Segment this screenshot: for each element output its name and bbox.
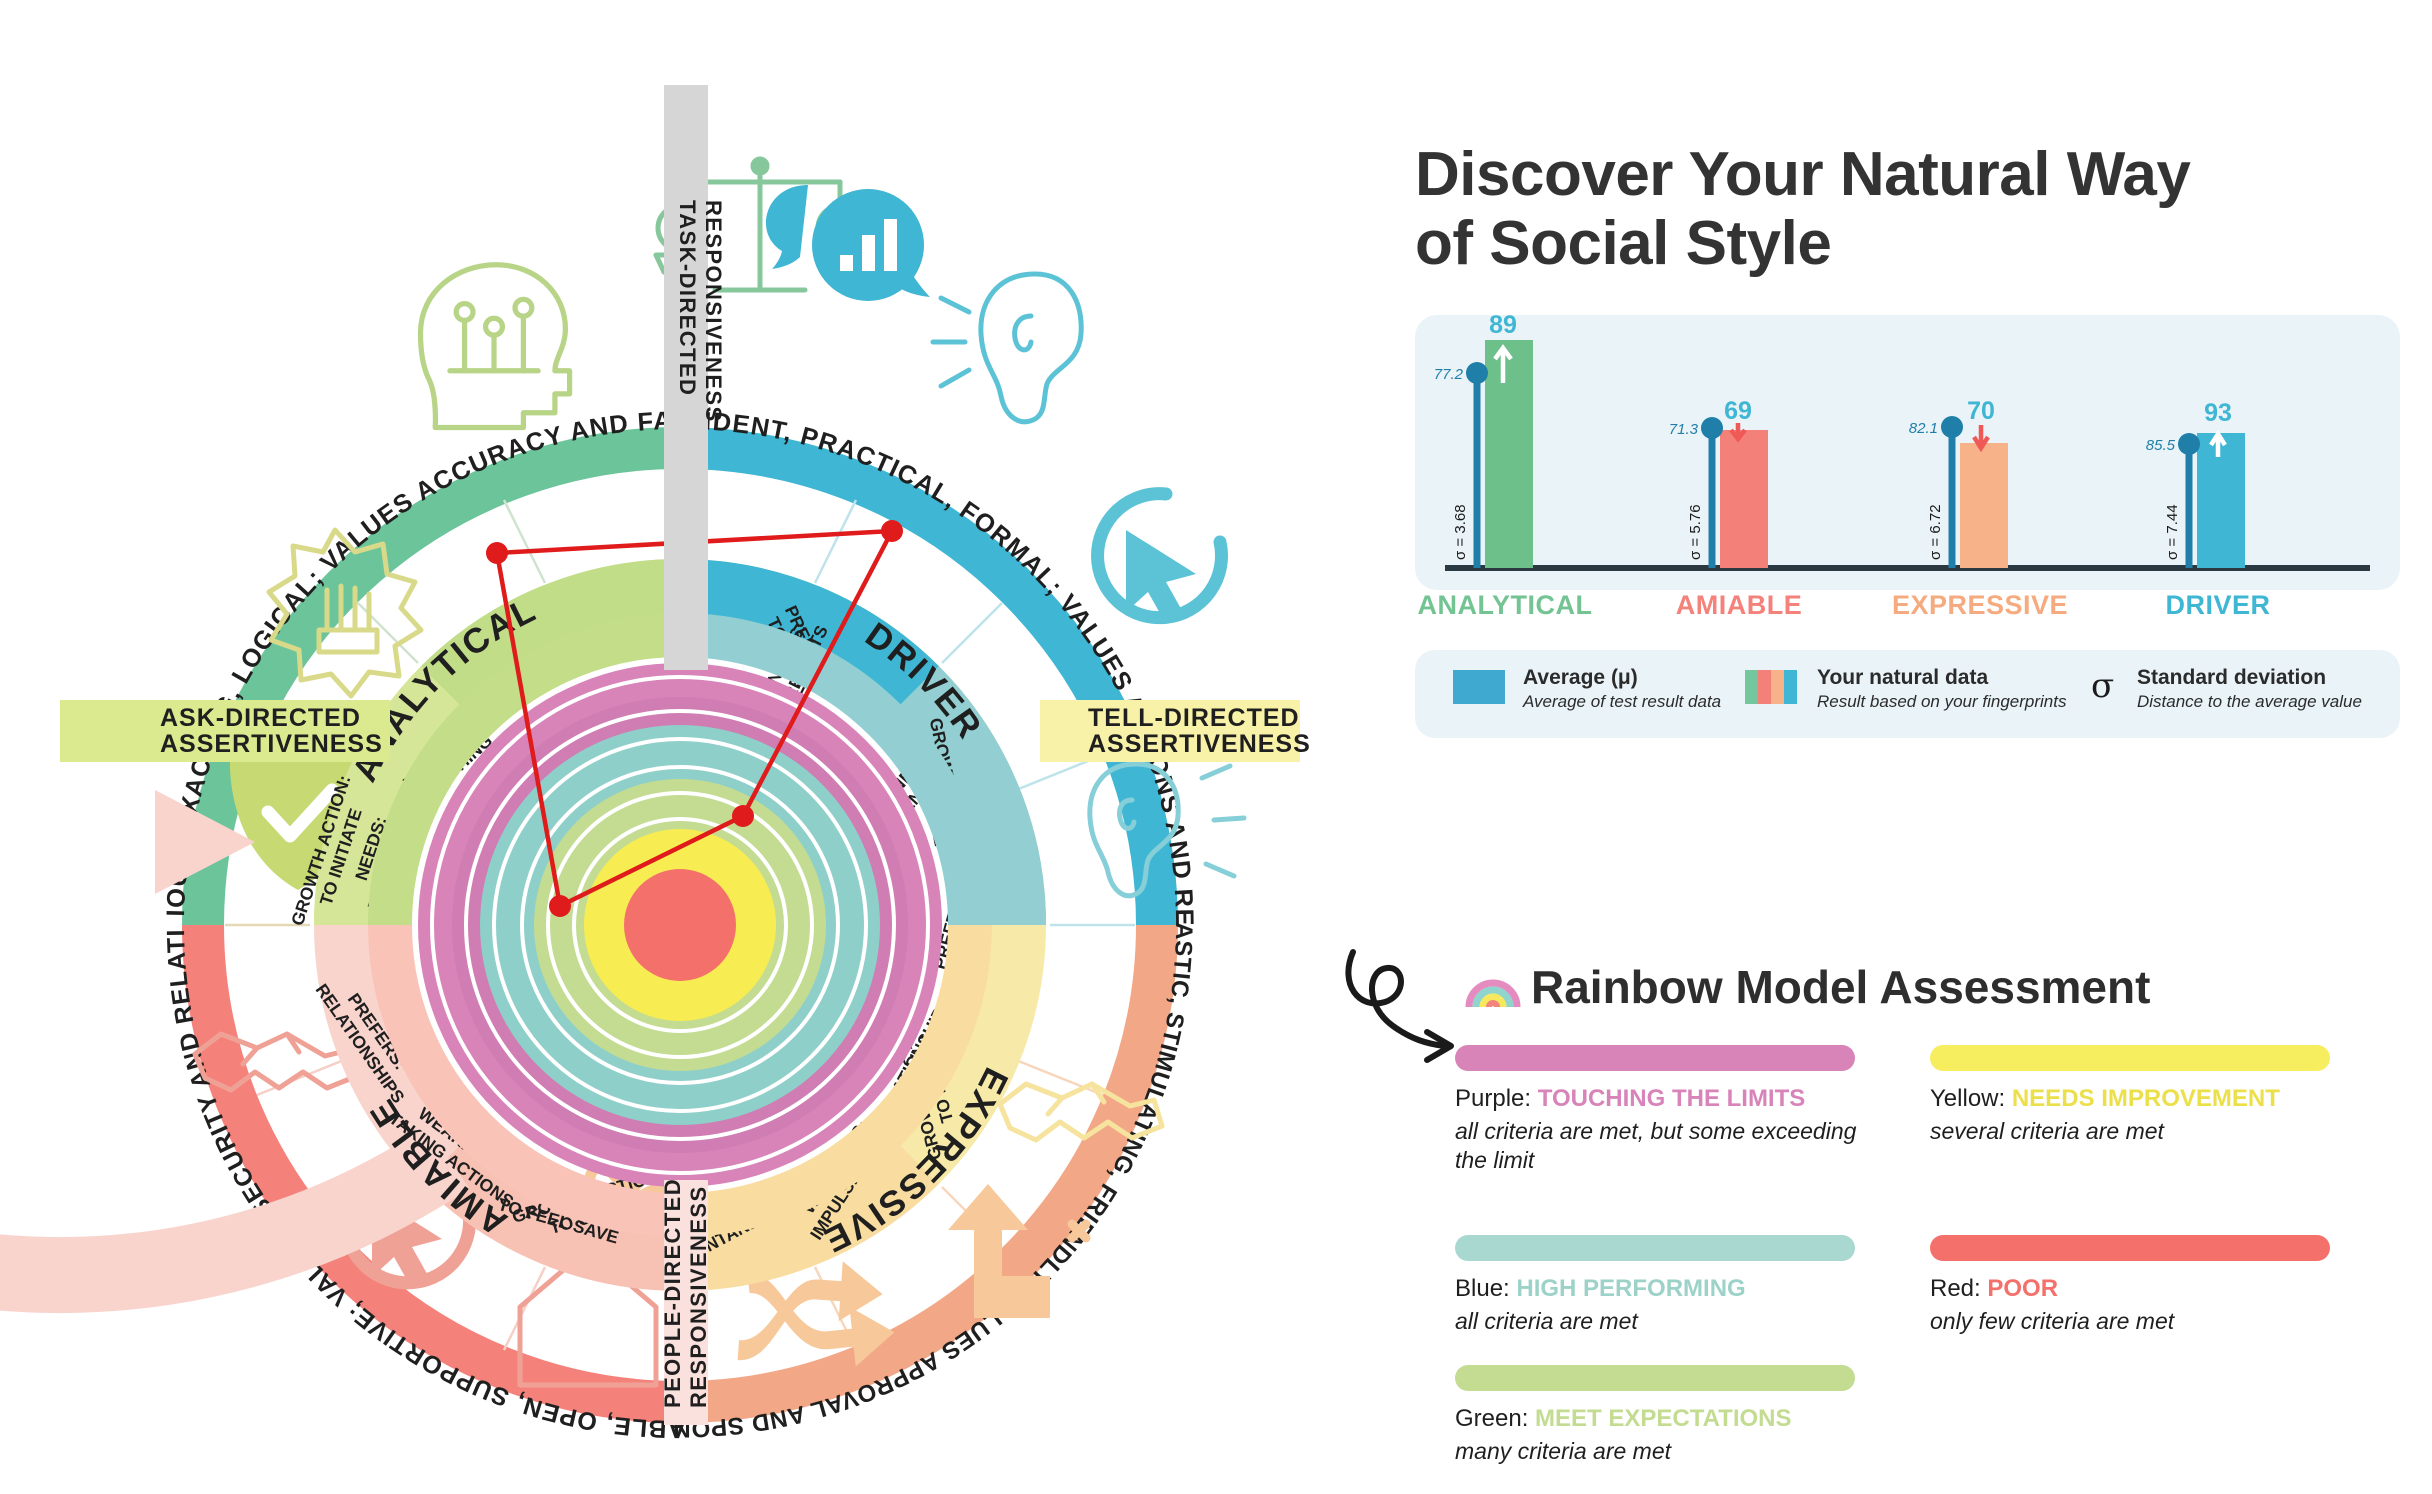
bar-group-amiable: 71.3 69 σ = 5.76 bbox=[1669, 397, 1768, 568]
rainbow-label-red: Red: POOR bbox=[1930, 1275, 2350, 1303]
axis-right: TELL-DIRECTED ASSERTIVENESS bbox=[1040, 700, 1311, 762]
bar-expressive bbox=[1960, 443, 2008, 568]
category-label-amiable: AMIABLE bbox=[1614, 590, 1864, 621]
page-title-line1: Discover Your Natural Way bbox=[1415, 140, 2415, 209]
bar-analytical bbox=[1485, 340, 1533, 568]
rainbow-desc-purple: all criteria are met, but some exceeding… bbox=[1455, 1117, 1875, 1176]
sigma-label-driver: σ = 7.44 bbox=[2164, 504, 2181, 560]
legend-sigma-sub: Distance to the average value bbox=[2137, 692, 2362, 712]
bar-amiable bbox=[1720, 430, 1768, 568]
page-title: Discover Your Natural Way of Social Styl… bbox=[1415, 140, 2415, 279]
bar-group-expressive: 82.1 70 σ = 6.72 bbox=[1909, 397, 2008, 568]
rainbow-bar-yellow bbox=[1930, 1045, 2330, 1071]
bar-group-analytical: 77.2 89 σ = 3.68 bbox=[1434, 315, 1533, 568]
value-label-driver: 93 bbox=[2204, 399, 2232, 427]
rainbow-desc-green: many criteria are met bbox=[1455, 1437, 1875, 1466]
legend-swatch-natural bbox=[1745, 670, 1797, 704]
legend-average-sub: Average of test result data bbox=[1523, 692, 1721, 712]
legend-average: Average (μ) Average of test result data bbox=[1523, 666, 1721, 712]
rainbow-bar-green bbox=[1455, 1365, 1855, 1391]
rainbow-bar-blue bbox=[1455, 1235, 1855, 1261]
axis-bottom-label2: RESPONSIVENESS bbox=[686, 1185, 711, 1408]
rainbow-icon bbox=[1465, 965, 1521, 1009]
bar-group-driver: 85.5 93 σ = 7.44 bbox=[2146, 399, 2245, 568]
ear-icon bbox=[933, 274, 1081, 422]
rainbow-label-purple: Purple: TOUCHING THE LIMITS bbox=[1455, 1085, 1875, 1113]
wheel-svg: SERIOUS, EXACTING, LOGICAL; VALUES ACCUR… bbox=[0, 0, 1390, 1494]
bar-chart-svg: 77.2 89 σ = 3.68 71.3 69 σ = 5.76 bbox=[1415, 315, 2400, 590]
rainbow-item-yellow: Yellow: NEEDS IMPROVEMENT several criter… bbox=[1930, 1045, 2350, 1146]
result-point-driver bbox=[881, 520, 903, 542]
rainbow-bar-purple bbox=[1455, 1045, 1855, 1071]
infographic-root: SERIOUS, EXACTING, LOGICAL; VALUES ACCUR… bbox=[0, 0, 2432, 1494]
axis-left-label2: ASSERTIVENESS bbox=[160, 730, 383, 758]
social-style-bar-chart: 77.2 89 σ = 3.68 71.3 69 σ = 5.76 bbox=[1415, 315, 2400, 590]
legend-swatch-average bbox=[1453, 670, 1505, 704]
avg-label-driver: 85.5 bbox=[2146, 437, 2176, 454]
rainbow-label-yellow: Yellow: NEEDS IMPROVEMENT bbox=[1930, 1085, 2350, 1113]
sigma-label-amiable: σ = 5.76 bbox=[1687, 504, 1704, 560]
value-label-amiable: 69 bbox=[1724, 397, 1752, 425]
bar-driver bbox=[2197, 433, 2245, 568]
avg-dot-driver bbox=[2178, 433, 2200, 455]
rainbow-label-blue: Blue: HIGH PERFORMING bbox=[1455, 1275, 1875, 1303]
avg-dot-expressive bbox=[1941, 416, 1963, 438]
result-point-analytical bbox=[486, 542, 508, 564]
axis-left: ASK-DIRECTED ASSERTIVENESS bbox=[60, 700, 390, 762]
legend-sigma: Standard deviation Distance to the avera… bbox=[2137, 666, 2362, 712]
axis-top-label: TASK-DIRECTED bbox=[675, 200, 700, 396]
axis-bottom: PEOPLE-DIRECTED RESPONSIVENESS bbox=[660, 1178, 711, 1425]
right-panel: Discover Your Natural Way of Social Styl… bbox=[1395, 0, 2432, 1494]
avg-label-analytical: 77.2 bbox=[1434, 366, 1464, 383]
rainbow-desc-yellow: several criteria are met bbox=[1930, 1117, 2350, 1146]
avg-label-expressive: 82.1 bbox=[1909, 420, 1938, 437]
rainbow-item-blue: Blue: HIGH PERFORMING all criteria are m… bbox=[1455, 1235, 1875, 1336]
head-settings-icon bbox=[421, 265, 570, 428]
category-label-expressive: EXPRESSIVE bbox=[1855, 590, 2105, 621]
legend-sigma-title: Standard deviation bbox=[2137, 666, 2362, 690]
rainbow-desc-red: only few criteria are met bbox=[1930, 1307, 2350, 1336]
rainbow-label-green: Green: MEET EXPECTATIONS bbox=[1455, 1405, 1875, 1433]
avg-label-amiable: 71.3 bbox=[1669, 421, 1699, 438]
result-point-expressive bbox=[732, 805, 754, 827]
category-label-analytical: ANALYTICAL bbox=[1380, 590, 1630, 621]
axis-bottom-label: PEOPLE-DIRECTED bbox=[660, 1178, 685, 1408]
legend-average-title: Average (μ) bbox=[1523, 666, 1721, 690]
axis-top-label2: RESPONSIVENESS bbox=[701, 200, 726, 423]
legend-natural: Your natural data Result based on your f… bbox=[1817, 666, 2066, 712]
legend-natural-sub: Result based on your fingerprints bbox=[1817, 692, 2066, 712]
avg-dot-amiable bbox=[1701, 417, 1723, 439]
value-label-expressive: 70 bbox=[1967, 397, 1995, 425]
rainbow-desc-blue: all criteria are met bbox=[1455, 1307, 1875, 1336]
social-style-wheel: SERIOUS, EXACTING, LOGICAL; VALUES ACCUR… bbox=[0, 0, 1390, 1494]
cursor-refresh-icon bbox=[1098, 494, 1222, 624]
axis-right-label1: TELL-DIRECTED bbox=[1088, 704, 1300, 732]
category-label-driver: DRIVER bbox=[2093, 590, 2343, 621]
chart-legend: Average (μ) Average of test result data … bbox=[1415, 650, 2400, 738]
rainbow-heading-row: Rainbow Model Assessment bbox=[1465, 960, 2150, 1014]
legend-natural-title: Your natural data bbox=[1817, 666, 2066, 690]
rainbow-item-red: Red: POOR only few criteria are met bbox=[1930, 1235, 2350, 1336]
sigma-label-analytical: σ = 3.68 bbox=[1452, 504, 1469, 560]
rainbow-title: Rainbow Model Assessment bbox=[1531, 960, 2150, 1014]
rainbow-bar-red bbox=[1930, 1235, 2330, 1261]
axis-right-label2: ASSERTIVENESS bbox=[1088, 730, 1311, 758]
rainbow-item-green: Green: MEET EXPECTATIONS many criteria a… bbox=[1455, 1365, 1875, 1466]
rainbow-item-purple: Purple: TOUCHING THE LIMITS all criteria… bbox=[1455, 1045, 1875, 1176]
axis-left-label1: ASK-DIRECTED bbox=[160, 704, 361, 732]
chart-category-labels: ANALYTICAL AMIABLE EXPRESSIVE DRIVER bbox=[1415, 590, 2400, 630]
page-title-line2: of Social Style bbox=[1415, 209, 2415, 278]
legend-sigma-glyph: σ bbox=[2091, 666, 2114, 706]
value-label-analytical: 89 bbox=[1489, 315, 1517, 339]
result-point-amiable bbox=[549, 895, 571, 917]
sigma-label-expressive: σ = 6.72 bbox=[1927, 504, 1944, 560]
chat-chart-icon bbox=[766, 185, 930, 301]
rainbow-rings bbox=[418, 663, 942, 1187]
red-core bbox=[624, 869, 736, 981]
avg-dot-analytical bbox=[1466, 362, 1488, 384]
